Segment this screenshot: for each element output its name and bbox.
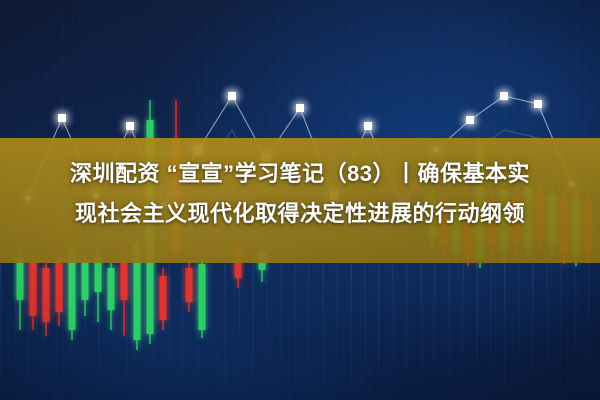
banner-image: 深圳配资 “宣宣”学习笔记（83）丨确保基本实 现社会主义现代化取得决定性进展的… [0, 0, 600, 400]
headline-line-1: 深圳配资 “宣宣”学习笔记（83）丨确保基本实 [0, 154, 600, 194]
headline-line-2: 现社会主义现代化取得决定性进展的行动纲领 [0, 194, 600, 234]
page-title: 深圳配资 “宣宣”学习笔记（83）丨确保基本实 现社会主义现代化取得决定性进展的… [0, 154, 600, 234]
